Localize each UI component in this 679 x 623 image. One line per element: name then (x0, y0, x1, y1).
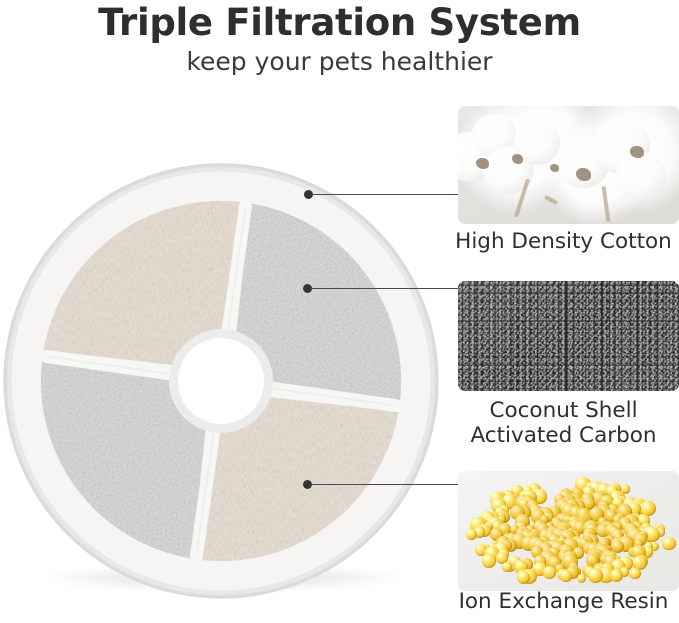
caption-carbon-line-2: Activated Carbon (448, 423, 679, 448)
filter-disc-illustration (3, 161, 440, 602)
resin-photo (458, 471, 679, 591)
caption-carbon-line-1: Coconut Shell (448, 398, 679, 423)
caption-cotton: High Density Cotton (448, 229, 679, 254)
leader-line-cotton (312, 194, 460, 195)
caption-cotton-line-1: High Density Cotton (448, 229, 679, 254)
filter-disc (3, 161, 440, 602)
disc-segments (7, 167, 435, 595)
carbon-photo (458, 281, 679, 391)
resin-bead (502, 562, 512, 572)
resin-bead (662, 537, 676, 551)
carbon-grain-texture (458, 281, 679, 391)
infographic-stage: Triple Filtration System keep your pets … (0, 0, 679, 623)
header: Triple Filtration System keep your pets … (0, 0, 679, 77)
leader-line-carbon (311, 288, 461, 289)
caption-carbon: Coconut Shell Activated Carbon (448, 398, 679, 448)
cotton-photo (458, 106, 679, 224)
caption-resin: Ion Exchange Resin (448, 589, 679, 614)
resin-bead (466, 529, 477, 540)
resin-bead (543, 566, 556, 579)
page-subtitle: keep your pets healthier (0, 43, 679, 77)
resin-bead (629, 568, 641, 580)
caption-resin-line-1: Ion Exchange Resin (448, 589, 679, 614)
disc-center-hole (178, 338, 264, 424)
page-title: Triple Filtration System (0, 0, 679, 43)
leader-line-resin (311, 484, 461, 485)
resin-bead (560, 570, 571, 581)
resin-bead (577, 574, 586, 583)
resin-bead (610, 569, 624, 583)
resin-bead (482, 554, 496, 568)
resin-bead (611, 540, 624, 553)
